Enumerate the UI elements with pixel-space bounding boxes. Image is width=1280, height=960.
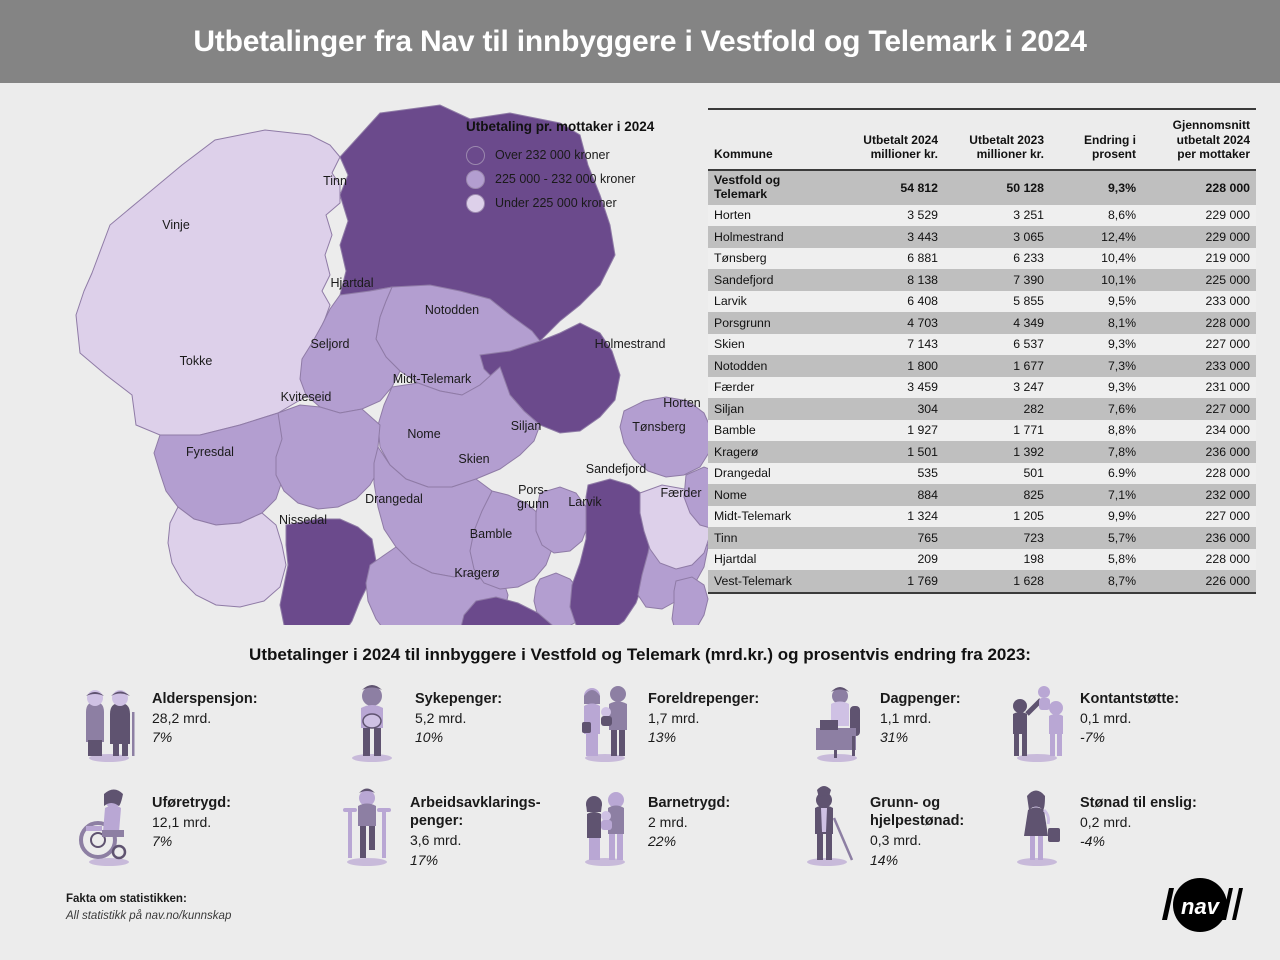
benefit-text: Arbeidsavklarings- penger:3,6 mrd.17% [410, 780, 541, 870]
header-bar: Utbetalinger fra Nav til innbyggere i Ve… [0, 0, 1280, 83]
benefit-item: Uføretrygd:12,1 mrd.7% [72, 780, 231, 868]
cell-utbetalt-2024: 3 529 [836, 205, 944, 227]
table-row[interactable]: Kragerø1 5011 3927,8%236 000 [708, 441, 1256, 463]
cell-utbetalt-2023: 282 [944, 398, 1050, 420]
cell-utbetalt-2023: 3 251 [944, 205, 1050, 227]
cell-kommune: Kragerø [708, 441, 836, 463]
crutches-icon [330, 780, 404, 868]
benefit-change: 31% [880, 728, 961, 748]
benefit-item: Arbeidsavklarings- penger:3,6 mrd.17% [330, 780, 541, 870]
legend-item-label: Over 232 000 kroner [495, 148, 610, 162]
benefit-name: Stønad til enslig: [1080, 794, 1197, 812]
benefit-name: Kontantstøtte: [1080, 690, 1179, 708]
cell-utbetalt-2024: 765 [836, 527, 944, 549]
cell-endring: 7,1% [1050, 484, 1142, 506]
benefit-item: Foreldrepenger:1,7 mrd.13% [568, 676, 759, 764]
cell-utbetalt-2023: 6 233 [944, 248, 1050, 270]
benefit-text: Kontantstøtte:0,1 mrd.-7% [1080, 676, 1179, 748]
benefit-amount: 0,1 mrd. [1080, 708, 1179, 728]
table-row[interactable]: Bamble1 9271 7718,8%234 000 [708, 420, 1256, 442]
cell-kommune: Siljan [708, 398, 836, 420]
benefit-text: Sykepenger:5,2 mrd.10% [415, 676, 502, 748]
benefit-item: Sykepenger:5,2 mrd.10% [335, 676, 502, 764]
cell-utbetalt-2024: 54 812 [836, 170, 944, 205]
cell-utbetalt-2023: 3 065 [944, 226, 1050, 248]
legend-item-1: 225 000 - 232 000 kroner [466, 167, 706, 191]
cell-kommune: Porsgrunn [708, 312, 836, 334]
table-row[interactable]: Larvik6 4085 8559,5%233 000 [708, 291, 1256, 313]
benefit-change: -4% [1080, 832, 1197, 852]
benefit-change: 10% [415, 728, 502, 748]
map-label-hjartdal: Hjartdal [330, 276, 373, 290]
cell-kommune: Vestfold og Telemark [708, 170, 836, 205]
cell-utbetalt-2024: 1 324 [836, 506, 944, 528]
cell-kommune: Notodden [708, 355, 836, 377]
cell-gjennomsnitt: 228 000 [1142, 549, 1256, 571]
cell-gjennomsnitt: 227 000 [1142, 398, 1256, 420]
logo-text: nav [1181, 894, 1221, 919]
cell-gjennomsnitt: 229 000 [1142, 226, 1256, 248]
footer-title: Fakta om statistikken: [66, 893, 231, 905]
map-label-siljan: Siljan [511, 419, 542, 433]
cell-endring: 6.9% [1050, 463, 1142, 485]
cell-utbetalt-2024: 304 [836, 398, 944, 420]
family-play-icon [1000, 676, 1074, 764]
cell-utbetalt-2023: 825 [944, 484, 1050, 506]
legend-swatch-icon [466, 194, 485, 213]
table-row[interactable]: Holmestrand3 4433 06512,4%229 000 [708, 226, 1256, 248]
benefit-name: Sykepenger: [415, 690, 502, 708]
benefit-item: Dagpenger:1,1 mrd.31% [800, 676, 961, 764]
table-row[interactable]: Siljan3042827,6%227 000 [708, 398, 1256, 420]
infographic-page: Utbetalinger fra Nav til innbyggere i Ve… [0, 0, 1280, 960]
table-row[interactable]: Drangedal5355016.9%228 000 [708, 463, 1256, 485]
cell-utbetalt-2024: 535 [836, 463, 944, 485]
sick-man-icon [335, 676, 409, 764]
cell-kommune: Tinn [708, 527, 836, 549]
benefits-section-title: Utbetalinger i 2024 til innbyggere i Ves… [0, 645, 1280, 665]
cell-kommune: Hjartdal [708, 549, 836, 571]
blind-cane-icon [790, 780, 864, 868]
cell-kommune: Vest-Telemark [708, 570, 836, 593]
benefit-change: 13% [648, 728, 759, 748]
table-body: Vestfold og Telemark54 81250 1289,3%228 … [708, 170, 1256, 593]
table-row[interactable]: Skien7 1436 5379,3%227 000 [708, 334, 1256, 356]
cell-kommune: Bamble [708, 420, 836, 442]
col-gjennomsnitt: Gjennomsnittutbetalt 2024per mottaker [1142, 109, 1256, 170]
cell-utbetalt-2024: 1 501 [836, 441, 944, 463]
parents-baby-icon [568, 676, 642, 764]
data-table: Kommune Utbetalt 2024millioner kr. Utbet… [708, 108, 1256, 594]
cell-kommune: Skien [708, 334, 836, 356]
map-label-tinn: Tinn [323, 174, 347, 188]
table-row[interactable]: Horten3 5293 2518,6%229 000 [708, 205, 1256, 227]
legend-item-label: Under 225 000 kroner [495, 196, 617, 210]
cell-gjennomsnitt: 234 000 [1142, 420, 1256, 442]
municipality-table: Kommune Utbetalt 2024millioner kr. Utbet… [708, 108, 1256, 594]
col-kommune: Kommune [708, 109, 836, 170]
table-row[interactable]: Hjartdal2091985,8%228 000 [708, 549, 1256, 571]
map-label-skien: Skien [458, 452, 489, 466]
map-label-horten: Horten [663, 396, 701, 410]
map-label-larvik: Larvik [568, 495, 602, 509]
map-label-bamble: Bamble [470, 527, 512, 541]
cell-gjennomsnitt: 227 000 [1142, 334, 1256, 356]
cell-utbetalt-2023: 5 855 [944, 291, 1050, 313]
benefit-amount: 1,7 mrd. [648, 708, 759, 728]
map-label-seljord: Seljord [311, 337, 350, 351]
benefit-item: Grunn- og hjelpestønad:0,3 mrd.14% [790, 780, 964, 870]
cell-gjennomsnitt: 229 000 [1142, 205, 1256, 227]
couple-child-icon [568, 780, 642, 868]
cell-endring: 9,3% [1050, 170, 1142, 205]
wheelchair-icon [72, 780, 146, 868]
benefit-amount: 0,2 mrd. [1080, 812, 1197, 832]
cell-gjennomsnitt: 225 000 [1142, 269, 1256, 291]
map-label-krager-: Kragerø [454, 566, 500, 580]
cell-utbetalt-2023: 7 390 [944, 269, 1050, 291]
benefit-name: Dagpenger: [880, 690, 961, 708]
benefit-name: Grunn- og hjelpestønad: [870, 794, 964, 830]
benefit-amount: 5,2 mrd. [415, 708, 502, 728]
benefit-amount: 28,2 mrd. [152, 708, 258, 728]
cell-endring: 5,7% [1050, 527, 1142, 549]
cell-utbetalt-2023: 1 628 [944, 570, 1050, 593]
benefit-change: -7% [1080, 728, 1179, 748]
cell-utbetalt-2023: 501 [944, 463, 1050, 485]
desk-worker-icon [800, 676, 874, 764]
cell-utbetalt-2023: 1 677 [944, 355, 1050, 377]
elderly-couple-icon [72, 676, 146, 764]
cell-utbetalt-2024: 209 [836, 549, 944, 571]
cell-endring: 9,3% [1050, 377, 1142, 399]
map-label-fyresdal: Fyresdal [186, 445, 234, 459]
map-label-nissedal: Nissedal [279, 513, 327, 527]
cell-endring: 8,6% [1050, 205, 1142, 227]
cell-kommune: Midt-Telemark [708, 506, 836, 528]
parents-baby-icon [568, 676, 642, 764]
col-utbetalt-2023: Utbetalt 2023millioner kr. [944, 109, 1050, 170]
footer-subtitle: All statistikk på nav.no/kunnskap [66, 910, 231, 922]
legend-items: Over 232 000 kroner225 000 - 232 000 kro… [466, 143, 706, 215]
map-region-f-rder[interactable] [672, 577, 708, 625]
map-label-midt-telemark: Midt-Telemark [393, 372, 472, 386]
cell-gjennomsnitt: 233 000 [1142, 291, 1256, 313]
cell-kommune: Larvik [708, 291, 836, 313]
benefit-item: Kontantstøtte:0,1 mrd.-7% [1000, 676, 1179, 764]
elderly-couple-icon [72, 676, 146, 764]
benefit-name: Alderspensjon: [152, 690, 258, 708]
benefit-item: Stønad til enslig:0,2 mrd.-4% [1000, 780, 1197, 868]
col-endring: Endring iprosent [1050, 109, 1142, 170]
cell-utbetalt-2024: 3 443 [836, 226, 944, 248]
cell-gjennomsnitt: 227 000 [1142, 506, 1256, 528]
benefit-text: Dagpenger:1,1 mrd.31% [880, 676, 961, 748]
family-play-icon [1000, 676, 1074, 764]
benefit-text: Foreldrepenger:1,7 mrd.13% [648, 676, 759, 748]
cell-endring: 9,3% [1050, 334, 1142, 356]
couple-child-icon [568, 780, 642, 868]
benefit-change: 17% [410, 851, 541, 871]
map-region-nissedal[interactable] [280, 519, 376, 625]
desk-worker-icon [800, 676, 874, 764]
benefit-text: Alderspensjon:28,2 mrd.7% [152, 676, 258, 748]
cell-gjennomsnitt: 228 000 [1142, 170, 1256, 205]
cell-utbetalt-2024: 1 800 [836, 355, 944, 377]
benefit-name: Uføretrygd: [152, 794, 231, 812]
cell-gjennomsnitt: 228 000 [1142, 312, 1256, 334]
map-label-drangedal: Drangedal [365, 492, 423, 506]
table-row[interactable]: Sandefjord8 1387 39010,1%225 000 [708, 269, 1256, 291]
table-head: Kommune Utbetalt 2024millioner kr. Utbet… [708, 109, 1256, 170]
table-row[interactable]: Notodden1 8001 6777,3%233 000 [708, 355, 1256, 377]
cell-kommune: Nome [708, 484, 836, 506]
cell-kommune: Horten [708, 205, 836, 227]
cell-gjennomsnitt: 233 000 [1142, 355, 1256, 377]
cell-gjennomsnitt: 232 000 [1142, 484, 1256, 506]
blind-cane-icon [790, 780, 864, 868]
cell-utbetalt-2023: 3 247 [944, 377, 1050, 399]
cell-utbetalt-2023: 4 349 [944, 312, 1050, 334]
cell-utbetalt-2024: 3 459 [836, 377, 944, 399]
benefit-item: Alderspensjon:28,2 mrd.7% [72, 676, 258, 764]
footer: Fakta om statistikken: All statistikk på… [66, 893, 231, 922]
benefit-text: Uføretrygd:12,1 mrd.7% [152, 780, 231, 852]
benefit-amount: 3,6 mrd. [410, 830, 541, 850]
cell-utbetalt-2024: 7 143 [836, 334, 944, 356]
legend-item-2: Under 225 000 kroner [466, 191, 706, 215]
table-row-total[interactable]: Vestfold og Telemark54 81250 1289,3%228 … [708, 170, 1256, 205]
table-row[interactable]: Nome8848257,1%232 000 [708, 484, 1256, 506]
cell-endring: 10,4% [1050, 248, 1142, 270]
cell-utbetalt-2024: 1 769 [836, 570, 944, 593]
legend-swatch-icon [466, 146, 485, 165]
cell-gjennomsnitt: 228 000 [1142, 463, 1256, 485]
cell-utbetalt-2023: 50 128 [944, 170, 1050, 205]
map-label-kviteseid: Kviteseid [281, 390, 332, 404]
map-label-f-rder: Færder [661, 486, 702, 500]
cell-kommune: Sandefjord [708, 269, 836, 291]
benefit-name: Barnetrygd: [648, 794, 730, 812]
table-row[interactable]: Tinn7657235,7%236 000 [708, 527, 1256, 549]
benefit-change: 7% [152, 832, 231, 852]
cell-endring: 7,8% [1050, 441, 1142, 463]
cell-utbetalt-2024: 884 [836, 484, 944, 506]
cell-endring: 12,4% [1050, 226, 1142, 248]
benefit-amount: 2 mrd. [648, 812, 730, 832]
cell-utbetalt-2024: 1 927 [836, 420, 944, 442]
single-woman-icon [1000, 780, 1074, 868]
map-label-vinje: Vinje [162, 218, 190, 232]
cell-endring: 5,8% [1050, 549, 1142, 571]
cell-endring: 7,6% [1050, 398, 1142, 420]
cell-utbetalt-2024: 6 408 [836, 291, 944, 313]
map-label-tokke: Tokke [180, 354, 213, 368]
benefit-name: Arbeidsavklarings- penger: [410, 794, 541, 830]
benefit-amount: 0,3 mrd. [870, 830, 964, 850]
benefit-amount: 1,1 mrd. [880, 708, 961, 728]
cell-endring: 10,1% [1050, 269, 1142, 291]
table-row[interactable]: Tønsberg6 8816 23310,4%219 000 [708, 248, 1256, 270]
table-row[interactable]: Midt-Telemark1 3241 2059,9%227 000 [708, 506, 1256, 528]
col-utbetalt-2024: Utbetalt 2024millioner kr. [836, 109, 944, 170]
legend-item-0: Over 232 000 kroner [466, 143, 706, 167]
cell-endring: 7,3% [1050, 355, 1142, 377]
map-legend: Utbetaling pr. mottaker i 2024 Over 232 … [466, 119, 706, 215]
table-row[interactable]: Porsgrunn4 7034 3498,1%228 000 [708, 312, 1256, 334]
table-row[interactable]: Vest-Telemark1 7691 6288,7%226 000 [708, 570, 1256, 593]
cell-utbetalt-2024: 6 881 [836, 248, 944, 270]
legend-title: Utbetaling pr. mottaker i 2024 [466, 119, 706, 134]
crutches-icon [330, 780, 404, 868]
legend-item-label: 225 000 - 232 000 kroner [495, 172, 635, 186]
cell-utbetalt-2024: 4 703 [836, 312, 944, 334]
map-label-holmestrand: Holmestrand [595, 337, 666, 351]
cell-endring: 8,8% [1050, 420, 1142, 442]
cell-kommune: Holmestrand [708, 226, 836, 248]
legend-swatch-icon [466, 170, 485, 189]
benefit-change: 22% [648, 832, 730, 852]
benefit-text: Stønad til enslig:0,2 mrd.-4% [1080, 780, 1197, 852]
map-label-sandefjord: Sandefjord [586, 462, 647, 476]
benefit-change: 14% [870, 851, 964, 871]
benefit-text: Barnetrygd:2 mrd.22% [648, 780, 730, 852]
sick-man-icon [335, 676, 409, 764]
cell-endring: 9,5% [1050, 291, 1142, 313]
benefit-amount: 12,1 mrd. [152, 812, 231, 832]
benefit-text: Grunn- og hjelpestønad:0,3 mrd.14% [870, 780, 964, 870]
map-label-t-nsberg: Tønsberg [632, 420, 686, 434]
benefit-name: Foreldrepenger: [648, 690, 759, 708]
cell-utbetalt-2024: 8 138 [836, 269, 944, 291]
cell-kommune: Færder [708, 377, 836, 399]
cell-kommune: Drangedal [708, 463, 836, 485]
benefit-item: Barnetrygd:2 mrd.22% [568, 780, 730, 868]
wheelchair-icon [72, 780, 146, 868]
single-woman-icon [1000, 780, 1074, 868]
cell-endring: 8,1% [1050, 312, 1142, 334]
cell-kommune: Tønsberg [708, 248, 836, 270]
benefit-change: 7% [152, 728, 258, 748]
cell-utbetalt-2023: 6 537 [944, 334, 1050, 356]
cell-utbetalt-2023: 1 392 [944, 441, 1050, 463]
cell-gjennomsnitt: 231 000 [1142, 377, 1256, 399]
map-label-pors-: Pors- [518, 483, 548, 497]
nav-logo: nav [1152, 872, 1248, 944]
cell-utbetalt-2023: 198 [944, 549, 1050, 571]
table-row[interactable]: Færder3 4593 2479,3%231 000 [708, 377, 1256, 399]
cell-gjennomsnitt: 226 000 [1142, 570, 1256, 593]
map-label-grunn: grunn [517, 497, 549, 511]
map-label-notodden: Notodden [425, 303, 479, 317]
cell-gjennomsnitt: 236 000 [1142, 441, 1256, 463]
cell-utbetalt-2023: 723 [944, 527, 1050, 549]
cell-endring: 8,7% [1050, 570, 1142, 593]
cell-endring: 9,9% [1050, 506, 1142, 528]
cell-utbetalt-2023: 1 205 [944, 506, 1050, 528]
cell-utbetalt-2023: 1 771 [944, 420, 1050, 442]
cell-gjennomsnitt: 236 000 [1142, 527, 1256, 549]
page-title: Utbetalinger fra Nav til innbyggere i Ve… [193, 25, 1086, 59]
map-label-nome: Nome [407, 427, 440, 441]
cell-gjennomsnitt: 219 000 [1142, 248, 1256, 270]
